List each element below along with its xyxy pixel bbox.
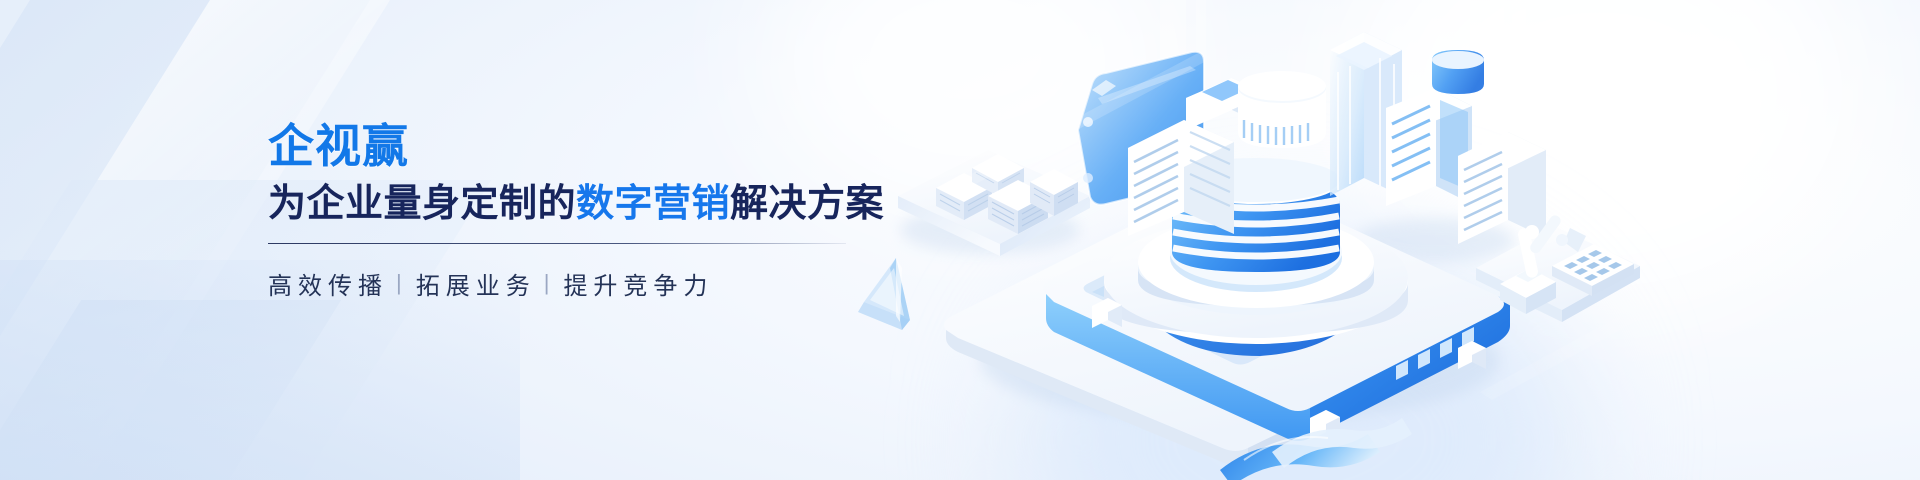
tagline-separator-2: |: [544, 270, 550, 296]
hero-illustration: [840, 0, 1920, 480]
headline: 为企业量身定制的数字营销解决方案: [268, 182, 908, 227]
tagline-item-2: 拓展业务: [416, 266, 536, 301]
capsule-blue-top: [1432, 50, 1484, 94]
tagline-separator-1: |: [396, 270, 402, 296]
tagline-item-1: 高效传播: [268, 266, 388, 301]
tagline-list: 高效传播 | 拓展业务 | 提升竞争力: [268, 266, 908, 301]
hero-text-block: 企视赢 为企业量身定制的数字营销解决方案 高效传播 | 拓展业务 | 提升竞争力: [268, 122, 908, 301]
background-diagonal-sheet-4: [0, 300, 341, 480]
headline-lead: 为企业量身定制的: [268, 183, 576, 225]
headline-tail: 解决方案: [730, 183, 884, 225]
tagline-item-3: 提升竞争力: [563, 266, 713, 301]
cylinder-tank: [1238, 71, 1326, 148]
headline-accent: 数字营销: [576, 183, 730, 225]
hero-banner: 企视赢 为企业量身定制的数字营销解决方案 高效传播 | 拓展业务 | 提升竞争力: [0, 0, 1920, 480]
brand-title: 企视赢: [268, 122, 908, 172]
headline-divider: [268, 243, 846, 244]
